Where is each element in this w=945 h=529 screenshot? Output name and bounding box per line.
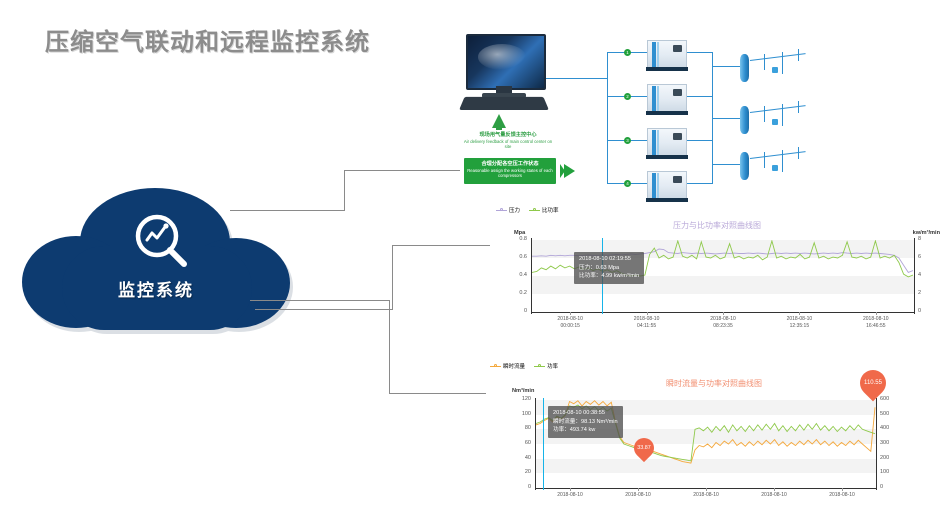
x-tick-mark: [570, 312, 571, 315]
pressure-tooltip-line2: 比功率：4.99 kw/m³/min: [579, 272, 639, 281]
green-status-box: 合理分配各空压工作状态 Reasonable assign the workin…: [464, 158, 556, 184]
x-tick-mark: [723, 312, 724, 315]
drop-2a: [764, 106, 765, 122]
legend-item-flow[interactable]: 瞬时流量: [490, 362, 525, 370]
y-tick-label: 0.4: [505, 272, 527, 278]
x-tick-label: 2018-08-10: [608, 492, 668, 499]
legend-marker-power: [534, 364, 545, 369]
compressor-4: [647, 171, 687, 202]
x-tick-label: 2018-08-10: [744, 492, 804, 499]
flow-tooltip-line1: 瞬时流量：98.13 Nm³/min: [553, 418, 618, 427]
flow-tooltip: 2018-08-10 00:38:55 瞬时流量：98.13 Nm³/min 功…: [548, 406, 623, 438]
y-tick-label-right: 600: [880, 396, 902, 402]
tree-trunk-icon: [496, 126, 502, 130]
slide-root: 压缩空气联动和远程监控系统 监控系统: [0, 0, 945, 529]
y-tick-label-right: 200: [880, 455, 902, 461]
y-tick-label-right: 2: [918, 290, 940, 296]
flow-chart-legend[interactable]: 瞬时流量 功率: [490, 362, 558, 370]
x-tick-label: 2018-08-10: [676, 492, 736, 499]
x-tick-mark: [774, 488, 775, 491]
drop-2c: [798, 101, 799, 113]
y-tick-label-right: 100: [880, 469, 902, 475]
legend-marker-pressure: [496, 208, 507, 213]
legend-item-pressure[interactable]: 压力: [496, 206, 520, 214]
flow-tooltip-timestamp: 2018-08-10 00:38:55: [553, 409, 618, 418]
pipe-monitor-bus: [546, 78, 608, 79]
pipe-tank-2: [712, 118, 740, 119]
flow-tooltip-line2: 功率：493.74 kw: [553, 426, 618, 435]
x-tick-mark: [706, 488, 707, 491]
y-tick-label: 0.2: [505, 290, 527, 296]
x-tick-label: 2018-08-1012:35:15: [769, 316, 829, 329]
flow-max-marker-label: 110.55: [860, 370, 886, 396]
y-axis-right: [914, 238, 915, 314]
monitor-caption: 现场用气量反馈主控中心 Air delivery feedback of mai…: [460, 132, 556, 149]
drop-1b: [782, 52, 783, 74]
pressure-tooltip-timestamp: 2018-08-10 02:19:55: [579, 255, 639, 264]
compressor-2: [647, 84, 687, 115]
connector-to-flow-chart: [250, 300, 495, 395]
y-tick-label: 60: [509, 440, 531, 446]
x-tick-label: 2018-08-1016:46:55: [846, 316, 906, 329]
pressure-chart-legend[interactable]: 压力 比功率: [496, 206, 559, 214]
tool-3: [772, 165, 778, 171]
x-tick-mark: [570, 488, 571, 491]
y-tick-label: 0.6: [505, 254, 527, 260]
pipe-vertical-bus: [607, 52, 608, 184]
connector-to-diagram: [230, 170, 470, 220]
pipe-tank-1: [712, 66, 740, 67]
magnifier-chart-icon: [131, 212, 193, 270]
tool-1: [772, 67, 778, 73]
x-tick-label: 2018-08-10: [540, 492, 600, 499]
drop-3a: [764, 152, 765, 168]
pipe-tank-3: [712, 164, 740, 165]
pressure-chart-title: 压力与比功率对照曲线图: [492, 220, 942, 231]
y-tick-label-right: 400: [880, 425, 902, 431]
y-tick-label: 20: [509, 469, 531, 475]
monitor-icon: [462, 34, 546, 112]
flow-max-marker[interactable]: 110.55: [855, 365, 892, 402]
flow-cursor-line: [543, 398, 544, 490]
y-tick-label: 100: [509, 411, 531, 417]
flow-min-marker[interactable]: 33.87: [630, 434, 658, 462]
node-1: 1: [624, 49, 631, 56]
compressor-3: [647, 128, 687, 159]
air-tank-2: [740, 106, 749, 134]
y-tick-label: 0.8: [505, 236, 527, 242]
pressure-chart-panel[interactable]: 压力 比功率 压力与比功率对照曲线图 Mpa kw/m³/min 00.20.4…: [492, 204, 942, 334]
pipe-out-2: [687, 96, 713, 97]
y-tick-label-right: 0: [918, 308, 940, 314]
y-tick-label-right: 6: [918, 254, 940, 260]
pressure-tooltip: 2018-08-10 02:19:55 压力：0.63 Mpa 比功率：4.99…: [574, 252, 644, 284]
legend-marker-flow: [490, 364, 501, 369]
legend-label-pressure: 压力: [509, 206, 520, 214]
node-2: 2: [624, 93, 631, 100]
compressed-air-system-diagram: 现场用气量反馈主控中心 Air delivery feedback of mai…: [452, 22, 942, 207]
tool-2: [772, 119, 778, 125]
drop-2b: [782, 104, 783, 126]
x-tick-mark: [876, 312, 877, 315]
y-tick-label: 40: [509, 455, 531, 461]
x-tick-label: 2018-08-1000:00:15: [540, 316, 600, 329]
pipe-out-4: [687, 183, 713, 184]
y-tick-label-right: 500: [880, 411, 902, 417]
green-box-en: Reasonable assign the working states of …: [464, 168, 556, 179]
legend-item-specific-power[interactable]: 比功率: [529, 206, 559, 214]
y-axis-right: [876, 398, 877, 490]
air-tank-3: [740, 152, 749, 180]
x-tick-mark: [842, 488, 843, 491]
x-tick-mark: [799, 312, 800, 315]
y-tick-label: 0: [505, 308, 527, 314]
y-tick-label-right: 0: [880, 484, 902, 490]
pipe-out-3: [687, 140, 713, 141]
compressor-1: [647, 40, 687, 71]
drop-1a: [764, 54, 765, 70]
x-tick-mark: [647, 312, 648, 315]
legend-label-flow: 瞬时流量: [503, 362, 525, 370]
drop-3b: [782, 150, 783, 172]
legend-marker-specific-power: [529, 208, 540, 213]
page-title: 压缩空气联动和远程监控系统: [45, 22, 370, 57]
x-tick-mark: [638, 488, 639, 491]
flow-power-chart-panel[interactable]: 瞬时流量 功率 瞬时流量与功率对照曲线图 Nm³/min 02040608010…: [486, 360, 942, 529]
pipe-out-1: [687, 52, 713, 53]
legend-label-specific-power: 比功率: [542, 206, 559, 214]
monitor-caption-en: Air delivery feedback of main control ce…: [460, 139, 556, 150]
drop-3c: [798, 147, 799, 159]
flow-min-marker-label: 33.87: [634, 438, 654, 458]
green-arrow-icon-2: [564, 164, 575, 178]
x-tick-label: 2018-08-10: [812, 492, 872, 499]
cloud-label: 监控系统: [22, 276, 290, 301]
drop-1c: [798, 49, 799, 61]
y-tick-label-right: 4: [918, 272, 940, 278]
y-tick-label: 120: [509, 396, 531, 402]
legend-label-power: 功率: [547, 362, 558, 370]
flow-y-unit: Nm³/min: [512, 388, 534, 394]
x-tick-label: 2018-08-1004:11:55: [617, 316, 677, 329]
air-tank-1: [740, 54, 749, 82]
legend-item-power[interactable]: 功率: [534, 362, 558, 370]
node-4: 4: [624, 180, 631, 187]
y-tick-label-right: 8: [918, 236, 940, 242]
pressure-tooltip-line1: 压力：0.63 Mpa: [579, 264, 639, 273]
y-tick-label: 80: [509, 425, 531, 431]
x-tick-label: 2018-08-1008:23:35: [693, 316, 753, 329]
y-tick-label-right: 300: [880, 440, 902, 446]
y-tick-label: 0: [509, 484, 531, 490]
node-3: 3: [624, 137, 631, 144]
